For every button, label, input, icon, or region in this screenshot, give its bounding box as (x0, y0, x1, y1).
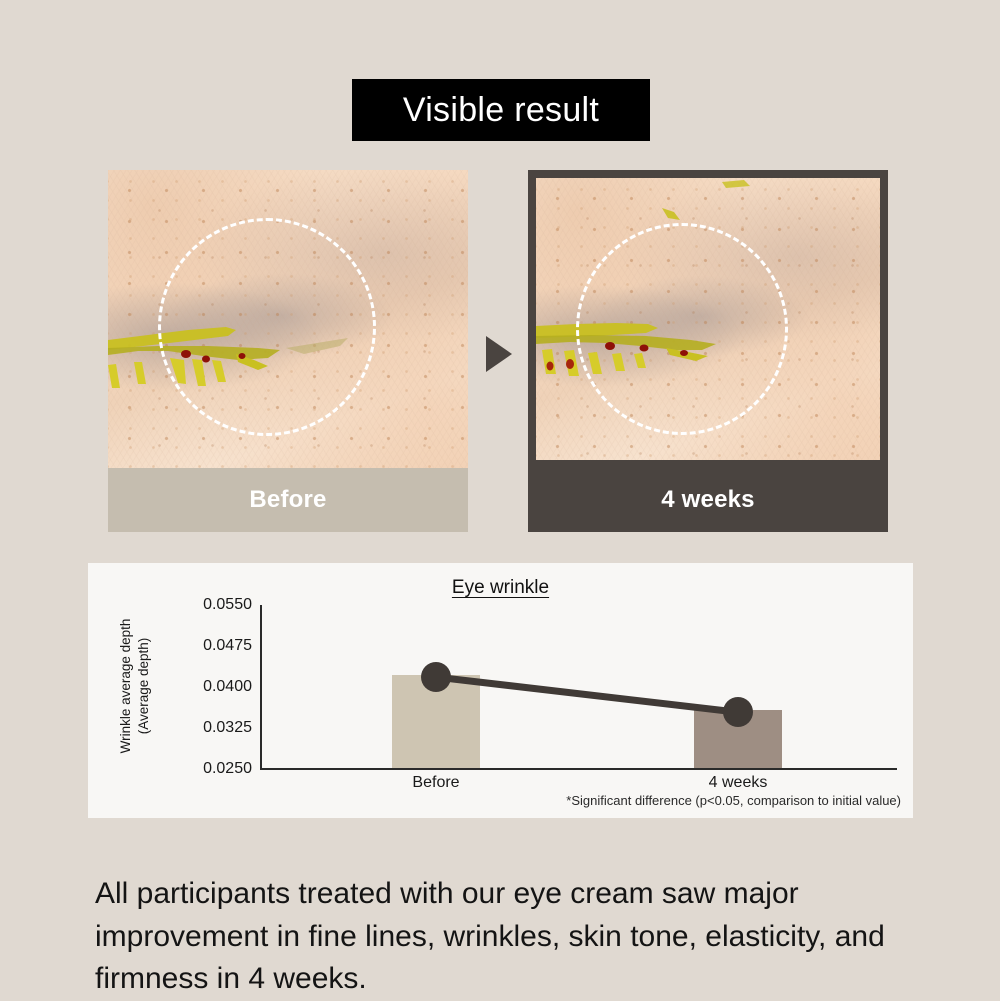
highlight-circle-icon (576, 223, 788, 435)
panel-caption-after: 4 weeks (661, 486, 754, 514)
skin-photo-before (108, 170, 468, 468)
chart-footnote: *Significant difference (p<0.05, compari… (566, 793, 901, 808)
chart-y-axis-label: Wrinkle average depth (Average depth) (50, 611, 220, 761)
x-tick-label: 4 weeks (709, 774, 768, 792)
arrow-right-icon (486, 336, 512, 372)
y-tick-label: 0.0250 (203, 760, 252, 778)
comparison-panel-before: Before (108, 170, 468, 532)
body-paragraph: All participants treated with our eye cr… (95, 873, 915, 1001)
chart-data-point-marker (723, 697, 753, 727)
y-tick-label: 0.0475 (203, 637, 252, 655)
comparison-panel-after: 4 weeks (528, 170, 888, 532)
x-tick-label: Before (412, 774, 459, 792)
y-axis-label-line2: (Average depth) (136, 638, 151, 735)
page-root: Visible result Befo (0, 0, 1000, 1000)
skin-photo-after (536, 178, 880, 460)
chart-trend-line (260, 605, 897, 770)
highlight-circle-icon (158, 218, 376, 436)
y-tick-label: 0.0325 (203, 719, 252, 737)
panel-caption-bar-before: Before (108, 468, 468, 532)
page-title: Visible result (403, 93, 599, 127)
y-axis-label-line1: Wrinkle average depth (118, 619, 133, 754)
page-title-banner: Visible result (352, 79, 650, 141)
panel-caption-bar-after: 4 weeks (528, 468, 888, 532)
chart-data-point-marker (421, 662, 451, 692)
y-tick-label: 0.0550 (203, 596, 252, 614)
panel-caption-before: Before (249, 486, 326, 514)
y-tick-label: 0.0400 (203, 678, 252, 696)
chart-card: Eye wrinkle Wrinkle average depth (Avera… (88, 563, 913, 818)
chart-plot-area: 0.0550 0.0475 0.0400 0.0325 0.0250 Befor… (260, 605, 897, 770)
